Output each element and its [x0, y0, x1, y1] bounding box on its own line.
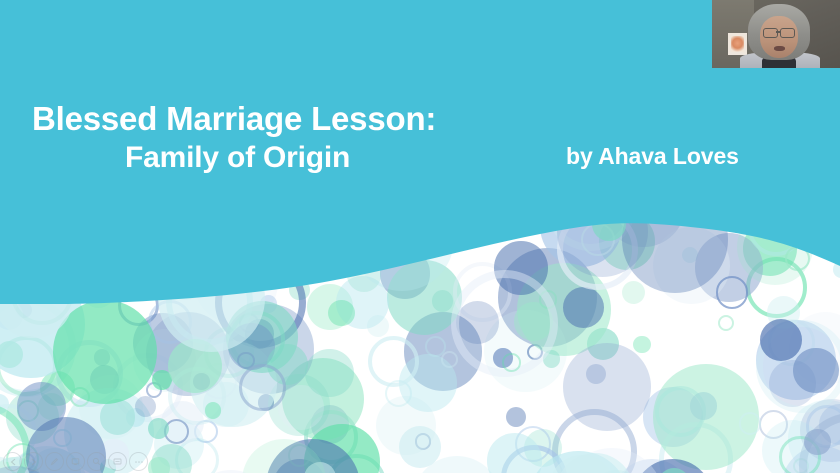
bubble — [633, 336, 650, 353]
more-options-button[interactable] — [129, 452, 148, 471]
webcam-glasses-left — [763, 28, 778, 38]
bubble — [368, 336, 419, 387]
captions-button[interactable] — [108, 452, 127, 471]
bubble — [148, 418, 169, 439]
present-icon — [71, 457, 80, 466]
bubble — [305, 349, 353, 397]
chevron-left-icon — [10, 458, 16, 466]
more-horizontal-icon — [134, 460, 144, 464]
zoom-search-button[interactable] — [87, 452, 106, 471]
bubble — [739, 412, 761, 434]
slide-title-line-2: Family of Origin — [125, 141, 350, 175]
presenter-webcam[interactable] — [712, 0, 840, 68]
bubble — [563, 287, 604, 328]
presentation-slide: Blessed Marriage Lesson: Family of Origi… — [0, 0, 840, 473]
bubble — [718, 315, 734, 331]
bubble — [563, 343, 651, 431]
pen-icon — [50, 457, 59, 466]
webcam-picture-art — [731, 36, 744, 52]
webcam-glasses-right — [780, 28, 795, 38]
bubble — [506, 407, 526, 427]
captions-icon — [113, 457, 122, 466]
slide-byline: by Ahava Loves — [566, 143, 739, 170]
pen-tool-button[interactable] — [45, 452, 64, 471]
webcam-glasses-bridge — [776, 31, 780, 33]
bubble — [622, 281, 645, 304]
previous-slide-button[interactable] — [3, 452, 22, 471]
bubble — [205, 402, 221, 418]
slide-title-line-1: Blessed Marriage Lesson: — [32, 100, 436, 138]
presentation-control-bar[interactable] — [0, 450, 163, 473]
bubble — [793, 348, 839, 394]
chevron-right-icon — [31, 458, 37, 466]
bubble — [502, 353, 520, 371]
search-icon — [92, 457, 101, 466]
bubble — [328, 300, 354, 326]
bubble — [760, 319, 802, 361]
bubble — [239, 364, 286, 411]
bubble — [716, 276, 748, 308]
next-slide-button[interactable] — [24, 452, 43, 471]
present-options-button[interactable] — [66, 452, 85, 471]
bubble — [804, 429, 830, 455]
bubble — [441, 351, 458, 368]
webcam-mouth — [774, 46, 785, 51]
